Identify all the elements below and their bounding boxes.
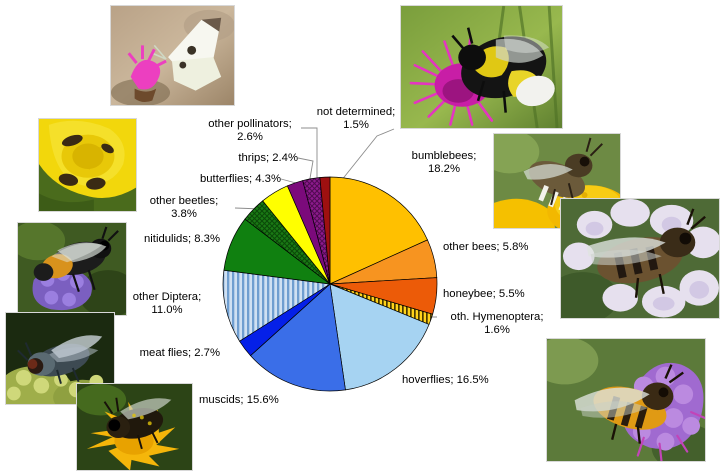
photo-cabbage-white-butterfly-image — [111, 6, 234, 105]
photo-honeybee-on-scabious-image — [547, 339, 705, 461]
label-hoverflies: hoverflies; 16.5% — [402, 374, 532, 387]
photo-honeybee-on-white-flowers-image — [561, 199, 719, 318]
label-meat-flies: meat flies; 2.7% — [120, 347, 220, 360]
photo-hoverfly-on-dandelion-image — [77, 384, 192, 470]
label-thrips: thrips; 2.4% — [188, 152, 298, 165]
photo-beetles-on-yellow-flower — [38, 118, 137, 212]
label-muscids: muscids; 15.6% — [199, 394, 319, 407]
label-honeybee: honeybee; 5.5% — [443, 288, 563, 301]
photo-beetles-on-yellow-flower-image — [39, 119, 136, 211]
label-other-beetles: other beetles; 3.8% — [132, 195, 236, 222]
pollinator-pie-chart-figure: other pollinators; 2.6% not determined; … — [0, 0, 720, 476]
label-other-diptera: other Diptera; 11.0% — [118, 291, 216, 318]
photo-bumblebee-mimic-fly — [17, 222, 127, 316]
label-nitidulids: nitidulids; 8.3% — [112, 233, 220, 246]
photo-honeybee-on-white-flowers — [560, 198, 720, 319]
label-not-determined: not determined; 1.5% — [308, 106, 404, 133]
label-other-bees: other bees; 5.8% — [443, 241, 567, 254]
photo-bumblebee-on-thistle-image — [401, 6, 562, 128]
photo-honeybee-on-scabious — [546, 338, 706, 462]
leader-not-determined — [341, 129, 394, 181]
label-other-pollinators: other pollinators; 2.6% — [196, 118, 304, 145]
label-oth-hymenoptera: oth. Hymenoptera; 1.6% — [432, 311, 562, 338]
label-bumblebees: bumblebees; 18.2% — [388, 150, 500, 177]
photo-bumblebee-on-thistle — [400, 5, 563, 129]
pie-chart-svg — [222, 176, 438, 392]
photo-bumblebee-mimic-fly-image — [18, 223, 126, 315]
label-butterflies: butterflies; 4.3% — [151, 173, 281, 186]
pie-chart — [222, 176, 438, 392]
photo-cabbage-white-butterfly — [110, 5, 235, 106]
photo-hoverfly-on-dandelion — [76, 383, 193, 471]
